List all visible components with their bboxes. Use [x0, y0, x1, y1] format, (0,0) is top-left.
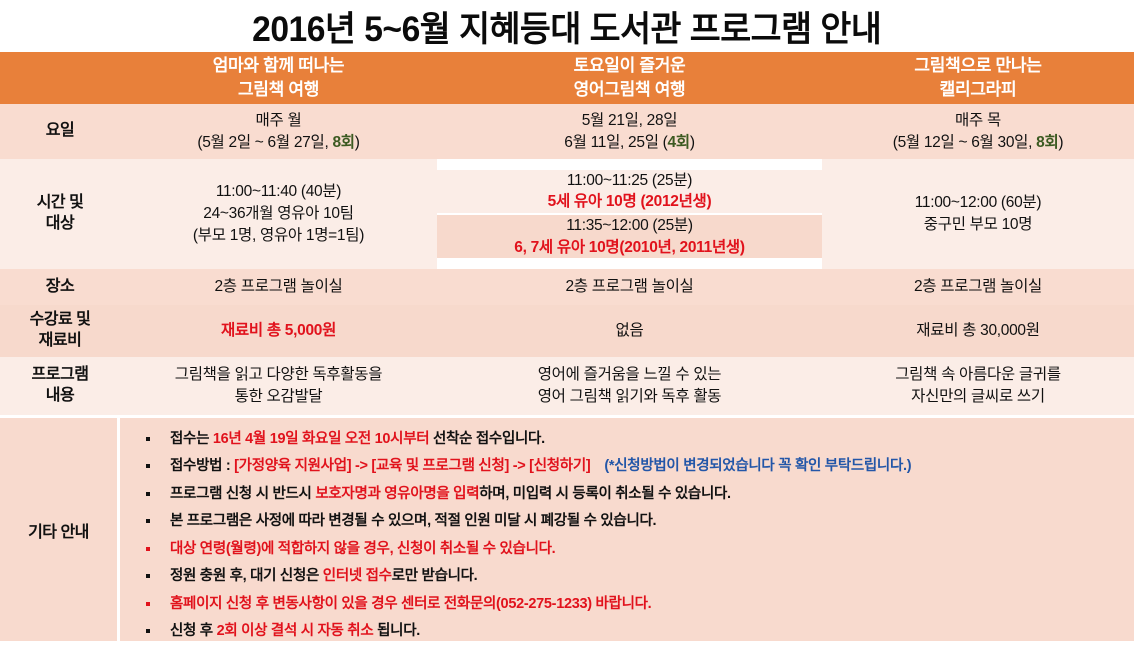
time-p2-s2-line1: 11:35~12:00 (25분) — [437, 215, 822, 237]
row-label-fee: 수강료 및 재료비 — [0, 305, 120, 357]
table-row-description: 프로그램 내용 그림책을 읽고 다양한 독후활동을 통한 오감발달 영어에 즐거… — [0, 357, 1134, 415]
notes-text-run: 센터로 전화문의(052-275-1233) 바랍니다. — [397, 596, 651, 612]
notes-text-run: (*신청방법이 변경되었습니다 꼭 확인 부탁드립니다.) — [604, 458, 911, 474]
bullet-icon — [146, 574, 150, 578]
desc-p1-line2: 통한 오감발달 — [120, 386, 437, 408]
day-p3-line1: 매주 목 — [822, 110, 1134, 132]
notes-text-run: 16년 4월 19일 화요일 오전 10시부터 — [213, 431, 429, 447]
desc-p3-line1: 그림책 속 아름다운 글귀를 — [822, 364, 1134, 386]
description-program-1: 그림책을 읽고 다양한 독후활동을 통한 오감발달 — [120, 357, 437, 415]
time-program-2: 11:00~11:25 (25분) 5세 유아 10명 (2012년생) 11:… — [437, 159, 822, 269]
notes-text-run: 프로그램 신청 시 반드시 — [170, 486, 315, 502]
row-label-desc-line1: 프로그램 — [0, 365, 120, 386]
day-program-2: 5월 21일, 28일 6월 11일, 25일 (4회) — [437, 104, 822, 159]
time-p2-s1-target: 5세 유아 10명 (2012년생) — [437, 191, 822, 213]
day-p1-count: 8회 — [332, 134, 354, 151]
day-p2-line1: 5월 21일, 28일 — [437, 110, 822, 132]
notes-text-run: 접수는 — [170, 431, 213, 447]
notes-item: 홈페이지 신청 후 변동사항이 있을 경우 센터로 전화문의(052-275-1… — [136, 593, 1134, 616]
notes-text-run: [가정양육 지원사업] -> [교육 및 프로그램 신청] -> [신청하기] — [234, 458, 590, 474]
header-corner-blank — [0, 52, 120, 104]
day-p2-line2: 6월 11일, 25일 (4회) — [437, 132, 822, 154]
row-label-time-target: 시간 및 대상 — [0, 159, 120, 269]
col2-title-line1: 토요일이 즐거운 — [437, 54, 822, 78]
bullet-icon — [146, 437, 150, 441]
notes-text-run: 대상 연령(월령)에 적합하지 않을 경우, 신청이 취소될 수 있습니다. — [170, 541, 555, 557]
fee-program-2: 없음 — [437, 305, 822, 357]
column-header-program-1: 엄마와 함께 떠나는 그림책 여행 — [120, 52, 437, 104]
time-p2-s1-line1: 11:00~11:25 (25분) — [437, 170, 822, 192]
table-row-place: 장소 2층 프로그램 놀이실 2층 프로그램 놀이실 2층 프로그램 놀이실 — [0, 269, 1134, 305]
row-label-place: 장소 — [0, 269, 120, 305]
time-p2-s2-target: 6, 7세 유아 10명(2010년, 2011년생) — [437, 237, 822, 259]
page-title: 2016년 5~6월 지혜등대 도서관 프로그램 안내 — [252, 1, 881, 52]
fee-p1-amount: 재료비 총 5,000원 — [221, 322, 336, 339]
notes-list: 접수는 16년 4월 19일 화요일 오전 10시부터 선착순 접수입니다.접수… — [136, 428, 1134, 644]
day-p3-count: 8회 — [1036, 134, 1058, 151]
time-p2-session-1: 11:00~11:25 (25분) 5세 유아 10명 (2012년생) — [437, 170, 822, 215]
program-table: 엄마와 함께 떠나는 그림책 여행 토요일이 즐거운 영어그림책 여행 그림책으… — [0, 52, 1134, 415]
time-program-1: 11:00~11:40 (40분) 24~36개월 영유아 10팀 (부모 1명… — [120, 159, 437, 269]
time-program-3: 11:00~12:00 (60분) 중구민 부모 10명 — [822, 159, 1134, 269]
notes-text-run: 2회 이상 결석 시 자동 취소 — [217, 623, 374, 639]
row-label-time-line1: 시간 및 — [0, 193, 120, 214]
notes-item: 접수는 16년 4월 19일 화요일 오전 10시부터 선착순 접수입니다. — [136, 428, 1134, 451]
fee-program-3: 재료비 총 30,000원 — [822, 305, 1134, 357]
place-program-2: 2층 프로그램 놀이실 — [437, 269, 822, 305]
desc-p2-line1: 영어에 즐거움을 느낄 수 있는 — [437, 364, 822, 386]
day-program-1: 매주 월 (5월 2일 ~ 6월 27일, 8회) — [120, 104, 437, 159]
notes-item: 정원 충원 후, 대기 신청은 인터넷 접수로만 받습니다. — [136, 565, 1134, 588]
day-p3-post: ) — [1058, 134, 1063, 151]
bullet-icon — [146, 547, 150, 551]
bullet-icon — [146, 602, 150, 606]
day-p2-post: ) — [690, 134, 695, 151]
place-program-3: 2층 프로그램 놀이실 — [822, 269, 1134, 305]
bullet-icon — [146, 464, 150, 468]
bullet-icon — [146, 492, 150, 496]
place-program-1: 2층 프로그램 놀이실 — [120, 269, 437, 305]
table-row-day: 요일 매주 월 (5월 2일 ~ 6월 27일, 8회) 5월 21일, 28일… — [0, 104, 1134, 159]
day-p3-line2: (5월 12일 ~ 6월 30일, 8회) — [822, 132, 1134, 154]
program-poster: 2016년 5~6월 지혜등대 도서관 프로그램 안내 엄마와 함께 떠나는 그… — [0, 0, 1134, 662]
notes-item: 프로그램 신청 시 반드시 보호자명과 영유아명을 입력하며, 미입력 시 등록… — [136, 483, 1134, 506]
day-p1-pre: (5월 2일 ~ 6월 27일, — [197, 134, 332, 151]
row-label-description: 프로그램 내용 — [0, 357, 120, 415]
table-header-row: 엄마와 함께 떠나는 그림책 여행 토요일이 즐거운 영어그림책 여행 그림책으… — [0, 52, 1134, 104]
notes-text-run: 선착순 접수입니다. — [429, 431, 545, 447]
row-label-day: 요일 — [0, 104, 120, 159]
row-label-fee-line2: 재료비 — [0, 331, 120, 352]
col3-title-line2: 캘리그라피 — [822, 78, 1134, 102]
time-p3-line1: 11:00~12:00 (60분) — [822, 192, 1134, 214]
notes-text-run: 접수방법 : — [170, 458, 234, 474]
notes-text-run: 하며, 미입력 시 등록이 취소될 수 있습니다. — [479, 486, 731, 502]
day-p1-line1: 매주 월 — [120, 110, 437, 132]
row-label-time-line2: 대상 — [0, 214, 120, 235]
bullet-icon — [146, 519, 150, 523]
notes-item: 접수방법 : [가정양육 지원사업] -> [교육 및 프로그램 신청] -> … — [136, 455, 1134, 478]
column-header-program-2: 토요일이 즐거운 영어그림책 여행 — [437, 52, 822, 104]
column-header-program-3: 그림책으로 만나는 캘리그라피 — [822, 52, 1134, 104]
notes-text-run: 로만 받습니다. — [392, 568, 478, 584]
time-p1-line3: (부모 1명, 영유아 1명=1팀) — [120, 225, 437, 247]
notes-section: 기타 안내 접수는 16년 4월 19일 화요일 오전 10시부터 선착순 접수… — [0, 415, 1134, 641]
row-label-desc-line2: 내용 — [0, 386, 120, 407]
fee-program-1: 재료비 총 5,000원 — [120, 305, 437, 357]
poster-title-bar: 2016년 5~6월 지혜등대 도서관 프로그램 안내 — [0, 0, 1134, 52]
time-p3-line2: 중구민 부모 10명 — [822, 214, 1134, 236]
notes-text-run: 보호자명과 영유아명을 입력 — [315, 486, 479, 502]
notes-text-run: 신청 후 — [170, 623, 217, 639]
notes-text-run: 인터넷 접수 — [323, 568, 392, 584]
bullet-icon — [146, 629, 150, 633]
notes-text-run: 됩니다. — [373, 623, 420, 639]
row-label-fee-line1: 수강료 및 — [0, 310, 120, 331]
notes-item: 신청 후 2회 이상 결석 시 자동 취소 됩니다. — [136, 620, 1134, 643]
description-program-2: 영어에 즐거움을 느낄 수 있는 영어 그림책 읽기와 독후 활동 — [437, 357, 822, 415]
col1-title-line1: 엄마와 함께 떠나는 — [120, 54, 437, 78]
description-program-3: 그림책 속 아름다운 글귀를 자신만의 글씨로 쓰기 — [822, 357, 1134, 415]
time-p1-line1: 11:00~11:40 (40분) — [120, 181, 437, 203]
day-p2-pre: 6월 11일, 25일 ( — [564, 134, 667, 151]
day-program-3: 매주 목 (5월 12일 ~ 6월 30일, 8회) — [822, 104, 1134, 159]
col2-title-line2: 영어그림책 여행 — [437, 78, 822, 102]
notes-label: 기타 안내 — [0, 418, 120, 641]
day-p3-pre: (5월 12일 ~ 6월 30일, — [893, 134, 1036, 151]
col3-title-line1: 그림책으로 만나는 — [822, 54, 1134, 78]
notes-text-run: 홈페이지 신청 후 변동사항이 있을 경우 — [170, 596, 397, 612]
desc-p1-line1: 그림책을 읽고 다양한 독후활동을 — [120, 364, 437, 386]
day-p1-post: ) — [355, 134, 360, 151]
desc-p3-line2: 자신만의 글씨로 쓰기 — [822, 386, 1134, 408]
notes-body: 접수는 16년 4월 19일 화요일 오전 10시부터 선착순 접수입니다.접수… — [120, 418, 1134, 641]
notes-item: 대상 연령(월령)에 적합하지 않을 경우, 신청이 취소될 수 있습니다. — [136, 538, 1134, 561]
time-p2-session-2: 11:35~12:00 (25분) 6, 7세 유아 10명(2010년, 20… — [437, 215, 822, 258]
day-p1-line2: (5월 2일 ~ 6월 27일, 8회) — [120, 132, 437, 154]
desc-p2-line2: 영어 그림책 읽기와 독후 활동 — [437, 386, 822, 408]
time-p1-line2: 24~36개월 영유아 10팀 — [120, 203, 437, 225]
col1-title-line2: 그림책 여행 — [120, 78, 437, 102]
notes-item: 본 프로그램은 사정에 따라 변경될 수 있으며, 적절 인원 미달 시 폐강될… — [136, 510, 1134, 533]
table-row-time-target: 시간 및 대상 11:00~11:40 (40분) 24~36개월 영유아 10… — [0, 159, 1134, 269]
notes-text-run: 정원 충원 후, 대기 신청은 — [170, 568, 323, 584]
day-p2-count: 4회 — [668, 134, 690, 151]
notes-text-run: 본 프로그램은 사정에 따라 변경될 수 있으며, 적절 인원 미달 시 폐강될… — [170, 513, 656, 529]
table-row-fee: 수강료 및 재료비 재료비 총 5,000원 없음 재료비 총 30,000원 — [0, 305, 1134, 357]
